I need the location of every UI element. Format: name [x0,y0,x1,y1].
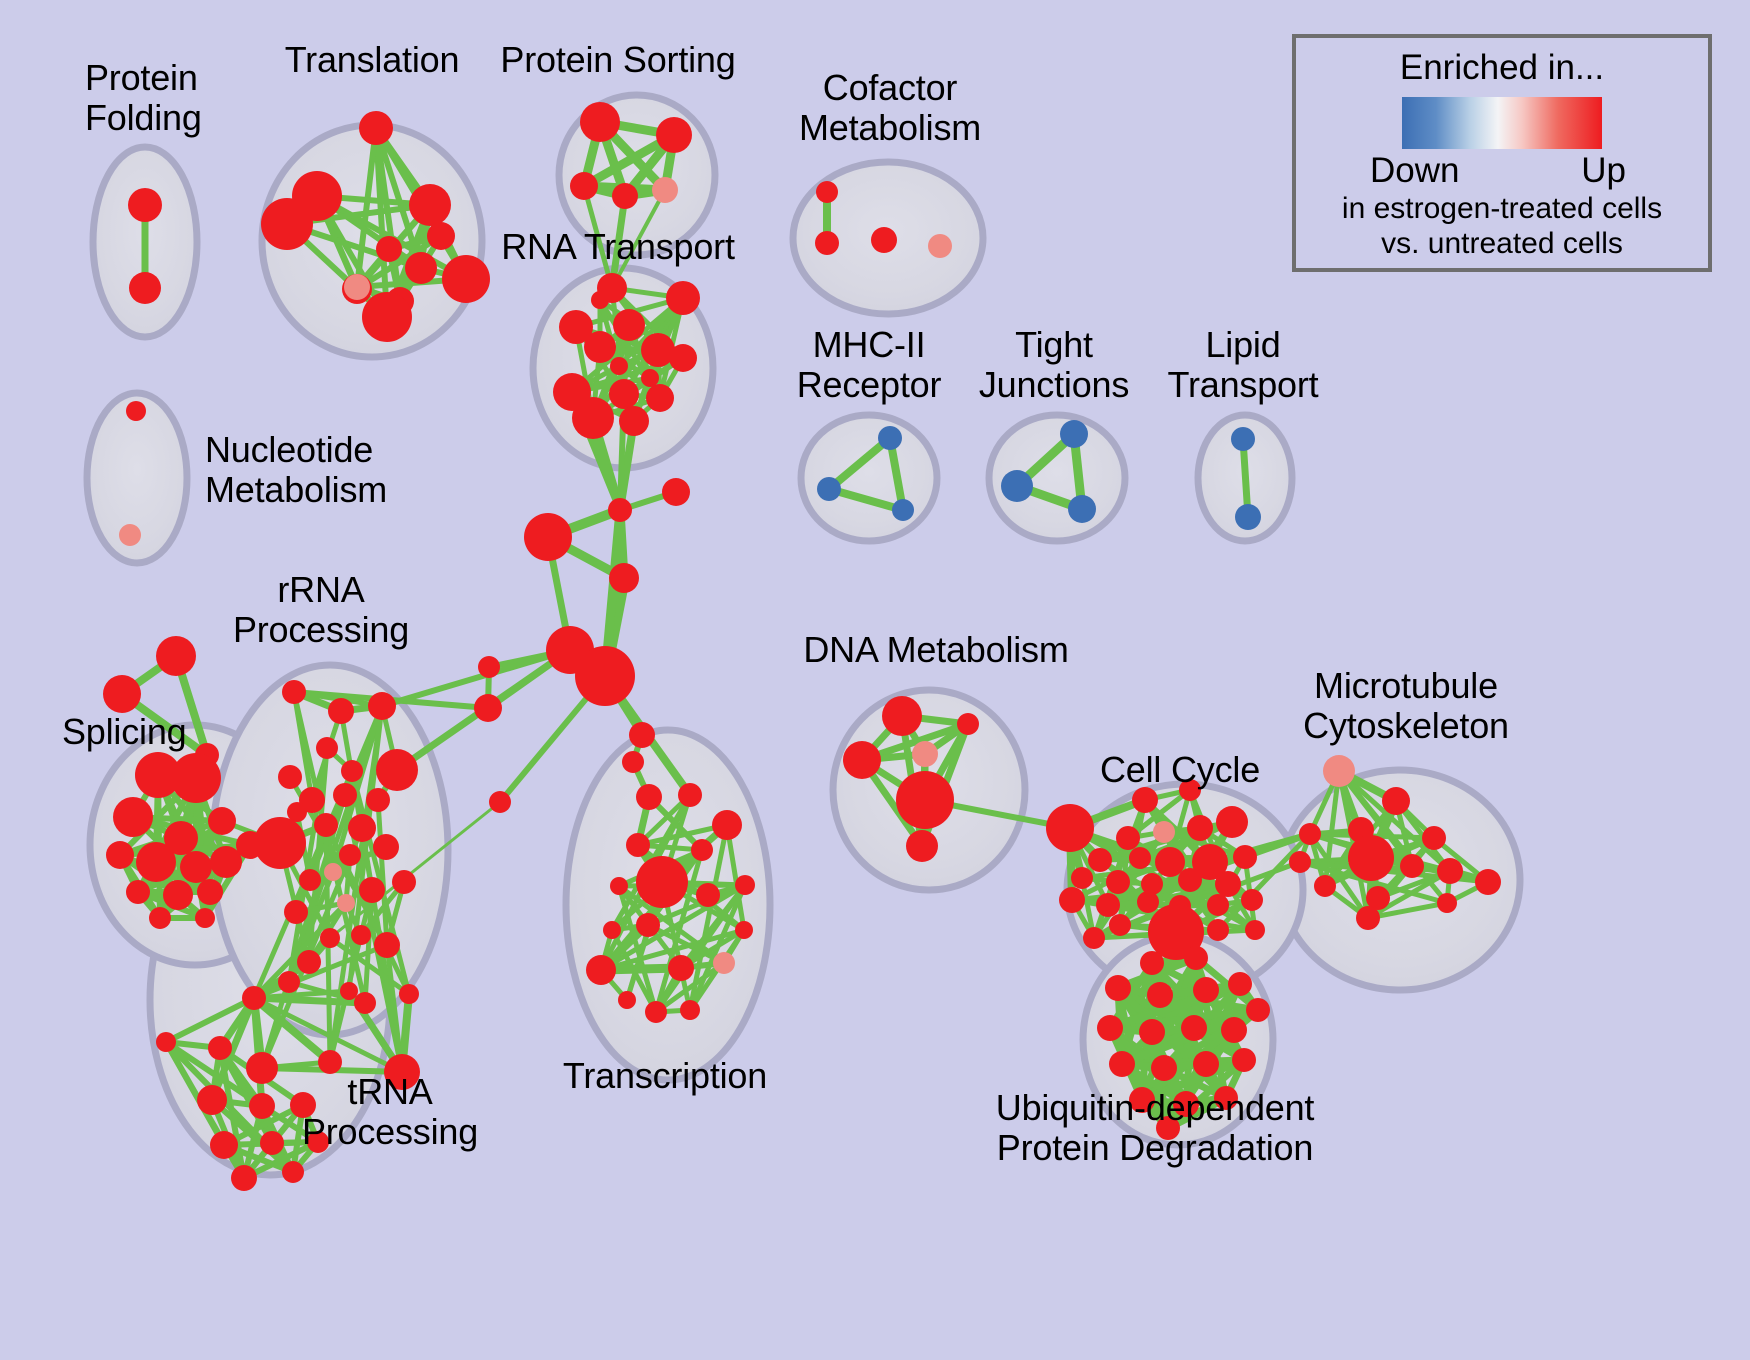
network-node [1232,1048,1256,1072]
network-node [254,817,306,869]
network-node [1147,982,1173,1008]
network-node [405,252,437,284]
network-node [399,984,419,1004]
network-node [163,880,193,910]
network-node [474,694,502,722]
network-node [1228,972,1252,996]
network-node [208,807,236,835]
network-node [1437,893,1457,913]
network-node [662,478,690,506]
network-node [1400,854,1424,878]
network-node [1155,847,1185,877]
network-node [359,877,385,903]
network-node [297,950,321,974]
network-node [878,426,902,450]
network-node [669,344,697,372]
network-node [608,498,632,522]
network-node [246,1052,278,1084]
network-node [366,788,390,812]
cluster-label-nucleotide-metabolism: Nucleotide Metabolism [205,430,387,511]
network-node [261,198,313,250]
network-node [427,222,455,250]
network-node [1193,977,1219,1003]
network-node [368,692,396,720]
network-node [1348,835,1394,881]
network-node [242,986,266,1010]
network-node [316,737,338,759]
network-node [906,830,938,862]
network-node [210,846,242,878]
network-node [278,765,302,789]
network-node [197,879,223,905]
network-node [337,894,355,912]
network-node [328,698,354,724]
network-node [591,291,609,309]
network-node [603,921,621,939]
network-node [1187,815,1213,841]
cluster-label-rrna-processing: rRNA Processing [233,570,409,651]
network-node [478,656,500,678]
network-node [928,234,952,258]
legend-endpoint-labels: Down Up [1370,151,1634,195]
network-node [1137,891,1159,913]
cluster-label-trna-processing: tRNA Processing [302,1072,478,1153]
network-node [362,292,412,342]
network-node [871,227,897,253]
network-node [359,111,393,145]
network-node [1109,914,1131,936]
network-node [282,680,306,704]
network-node [128,188,162,222]
network-node [1193,1051,1219,1077]
cluster-label-protein-sorting: Protein Sorting [500,40,735,80]
network-node [882,696,922,736]
network-node [489,791,511,813]
network-node [392,870,416,894]
network-node [609,379,639,409]
network-node [636,913,660,937]
cluster-label-cofactor-metabolism: Cofactor Metabolism [799,68,981,149]
network-node [103,675,141,713]
network-node [1139,1019,1165,1045]
network-node [351,925,371,945]
network-node [1109,1051,1135,1077]
network-node [622,751,644,773]
network-node [1475,869,1501,895]
network-node [344,274,370,300]
network-node [354,992,376,1014]
network-node [572,397,614,439]
network-node [299,869,321,891]
cluster-label-mhc-ii-receptor: MHC-II Receptor [797,325,941,406]
network-node [619,406,649,436]
network-node [1105,975,1131,1001]
network-node [678,783,702,807]
network-node [613,309,645,341]
network-node [691,839,713,861]
network-node [1068,495,1096,523]
network-node [1060,420,1088,448]
network-node [1216,806,1248,838]
cluster-label-rna-transport: RNA Transport [501,227,735,267]
network-node [1323,755,1355,787]
network-node [735,921,753,939]
network-node [896,771,954,829]
network-node [570,172,598,200]
network-node [278,971,300,993]
network-node [618,991,636,1009]
network-node [1184,946,1208,970]
legend-caption-line-2: vs. untreated cells [1296,226,1708,261]
cluster-label-lipid-transport: Lipid Transport [1168,325,1319,406]
network-node [1153,821,1175,843]
network-node [1289,851,1311,873]
network-node [609,563,639,593]
cluster-label-dna-metabolism: DNA Metabolism [803,630,1068,670]
network-node [1140,951,1164,975]
network-node [1046,804,1094,852]
network-node [1356,906,1380,930]
network-node [626,833,650,857]
network-node [1097,1015,1123,1041]
network-node [1001,470,1033,502]
network-node [666,281,700,315]
network-node [610,877,628,895]
network-node [348,814,376,842]
network-node [636,784,662,810]
network-node [1116,826,1140,850]
network-node [195,908,215,928]
network-node [843,741,881,779]
cluster-label-ubiquitin-protein-degradation: Ubiquitin-dependent Protein Degradation [996,1088,1314,1169]
cluster-label-transcription: Transcription [563,1056,767,1096]
network-node [113,797,153,837]
network-node [1181,1015,1207,1041]
network-node [208,1036,232,1060]
network-node [641,369,659,387]
network-node [1299,823,1321,845]
network-node [1422,826,1446,850]
network-node [1071,867,1093,889]
network-node [1437,858,1463,884]
network-node [180,851,212,883]
network-node [373,834,399,860]
network-node [374,932,400,958]
network-node [524,513,572,561]
network-node [610,357,628,375]
network-node [156,1032,176,1052]
enrichment-map-figure: Protein Folding Translation Protein Sort… [0,0,1750,1360]
network-edge [382,650,570,706]
network-node [376,749,418,791]
network-node [1231,427,1255,451]
network-node [136,842,176,882]
cluster-bubble-mhc-ii-receptor [801,415,937,541]
legend-caption: in estrogen-treated cells vs. untreated … [1296,191,1708,262]
network-node [1151,1055,1177,1081]
network-node [324,863,342,881]
network-node [287,802,307,822]
network-node [339,844,361,866]
network-node [713,952,735,974]
network-node [646,384,674,412]
network-node [318,1050,342,1074]
network-node [376,236,402,262]
legend-caption-line-1: in estrogen-treated cells [1296,191,1708,226]
network-node [1096,893,1120,917]
network-node [892,499,914,521]
network-node [816,181,838,203]
network-node [912,741,938,767]
cluster-label-translation: Translation [285,40,460,80]
network-node [1314,875,1336,897]
network-node [668,955,694,981]
network-node [320,928,340,948]
network-node [231,1165,257,1191]
network-node [340,982,358,1000]
network-node [126,880,150,904]
color-gradient-bar [1402,97,1602,149]
network-node [1245,920,1265,940]
network-node [333,783,357,807]
network-node [149,907,171,929]
network-node [696,883,720,907]
network-node [1246,998,1270,1022]
network-node [1106,870,1130,894]
network-node [1178,868,1202,892]
network-node [1241,889,1263,911]
network-node [1088,848,1112,872]
cluster-label-microtubule-cytoskeleton: Microtubule Cytoskeleton [1303,666,1509,747]
network-node [1207,894,1229,916]
network-node [106,841,134,869]
network-node [575,646,635,706]
network-node [249,1093,275,1119]
network-node [636,856,688,908]
network-node [1235,504,1261,530]
network-node [584,331,616,363]
network-node [1207,919,1229,941]
network-node [580,102,620,142]
network-node [680,1000,700,1020]
network-node [282,1161,304,1183]
network-node [409,184,451,226]
network-node [171,753,221,803]
legend-low-label: Down [1370,151,1459,191]
cluster-label-splicing: Splicing [62,712,186,752]
network-node [1221,1017,1247,1043]
network-node [314,813,338,837]
network-node [284,900,308,924]
cluster-label-protein-folding: Protein Folding [85,58,202,139]
network-node [341,760,363,782]
network-node [712,810,742,840]
network-node [1132,787,1158,813]
network-node [119,524,141,546]
legend-panel: Enriched in... Down Up in estrogen-treat… [1292,34,1712,272]
cluster-label-cell-cycle: Cell Cycle [1100,750,1260,790]
network-node [629,722,655,748]
network-node [652,177,678,203]
network-node [129,272,161,304]
network-node [1059,887,1085,913]
network-node [1083,927,1105,949]
network-node [126,401,146,421]
network-node [1233,845,1257,869]
network-node [1382,787,1410,815]
cluster-label-tight-junctions: Tight Junctions [979,325,1129,406]
network-node [815,231,839,255]
network-node [156,636,196,676]
network-node [656,117,692,153]
network-node [735,875,755,895]
network-node [957,713,979,735]
network-node [260,1131,284,1155]
network-node [210,1131,238,1159]
network-node [1215,871,1241,897]
network-node [586,955,616,985]
legend-high-label: Up [1581,151,1626,191]
legend-title: Enriched in... [1296,48,1708,88]
network-node [442,255,490,303]
network-node [612,183,638,209]
network-node [645,1001,667,1023]
network-node [1129,847,1151,869]
network-node [817,477,841,501]
network-node [197,1085,227,1115]
